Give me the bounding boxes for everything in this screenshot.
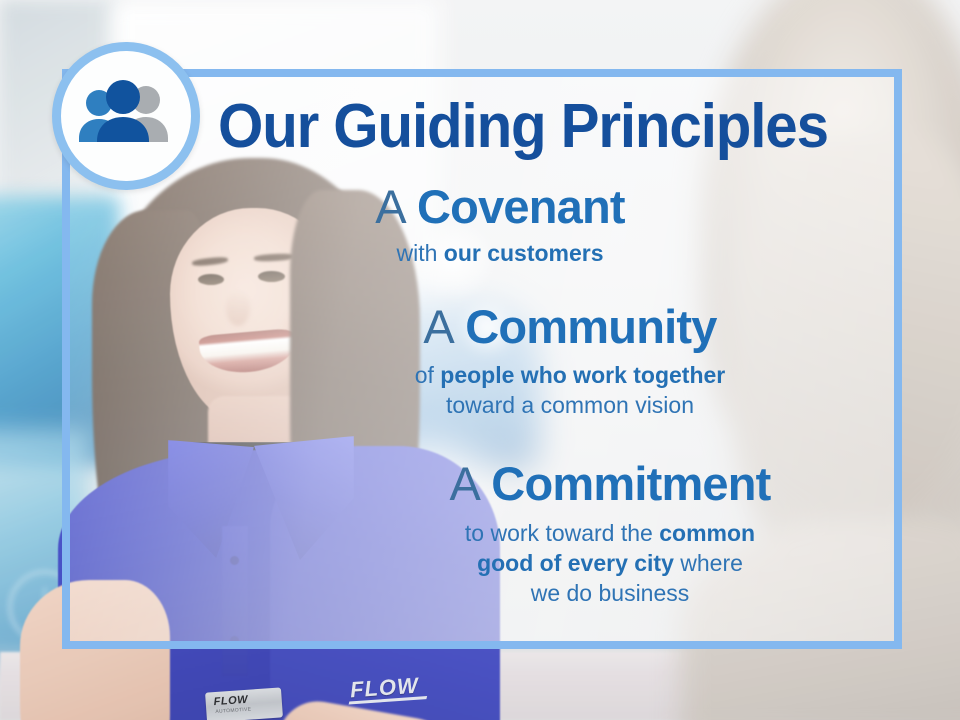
subject-nose	[226, 290, 250, 326]
detail-line-2: toward a common vision	[300, 391, 840, 421]
detail-line-3: we do business	[330, 579, 890, 609]
principle-keyword: Commitment	[491, 457, 770, 510]
page-title: Our Guiding Principles	[218, 96, 828, 158]
detail-text-normal: with	[396, 240, 443, 266]
principle-keyword: Community	[465, 300, 716, 353]
people-group-icon	[74, 80, 178, 152]
detail-text-bold: people who work together	[440, 362, 725, 388]
detail-text-bold: common	[659, 520, 755, 546]
principle-article: A	[375, 180, 404, 233]
subject-eye-left	[198, 274, 224, 285]
name-badge-brand: FLOW	[213, 694, 248, 708]
people-group-badge	[52, 42, 200, 190]
detail-line-1: of people who work together	[300, 361, 840, 391]
name-badge-subtext: AUTOMOTIVE	[215, 707, 251, 715]
detail-line-2: good of every city where	[330, 549, 890, 579]
principle-block-covenant: A Covenant with our customers	[250, 183, 750, 269]
poster-canvas: FLOW FLOW AUTOMOTIVE Our Guiding Princip…	[0, 0, 960, 720]
principle-heading-covenant: A Covenant	[250, 183, 750, 232]
principle-detail-commitment: to work toward the common good of every …	[330, 519, 890, 609]
principle-article: A	[423, 300, 452, 353]
principle-heading-commitment: A Commitment	[330, 460, 890, 509]
subject-arm-left	[20, 580, 170, 720]
principle-article: A	[449, 457, 478, 510]
employee-name-badge: FLOW AUTOMOTIVE	[205, 687, 283, 720]
principle-keyword: Covenant	[417, 180, 625, 233]
subject-shirt-button-upper	[230, 556, 239, 565]
detail-text-bold: good of every city	[477, 550, 674, 576]
subject-eye-right	[258, 271, 285, 282]
shirt-flow-logo: FLOW	[349, 673, 419, 704]
principle-detail-covenant: with our customers	[250, 239, 750, 269]
detail-text-normal: to work toward the	[465, 520, 659, 546]
detail-text-normal: where	[674, 550, 743, 576]
subject-shirt-button-lower	[230, 636, 239, 645]
detail-line-1: to work toward the common	[330, 519, 890, 549]
subject-shirt-placket	[222, 526, 248, 676]
principle-block-community: A Community of people who work together …	[300, 303, 840, 421]
principle-detail-community: of people who work together toward a com…	[300, 361, 840, 421]
principle-heading-community: A Community	[300, 303, 840, 352]
detail-text-normal: of	[415, 362, 441, 388]
detail-text-bold: our customers	[444, 240, 604, 266]
principle-block-commitment: A Commitment to work toward the common g…	[330, 460, 890, 609]
